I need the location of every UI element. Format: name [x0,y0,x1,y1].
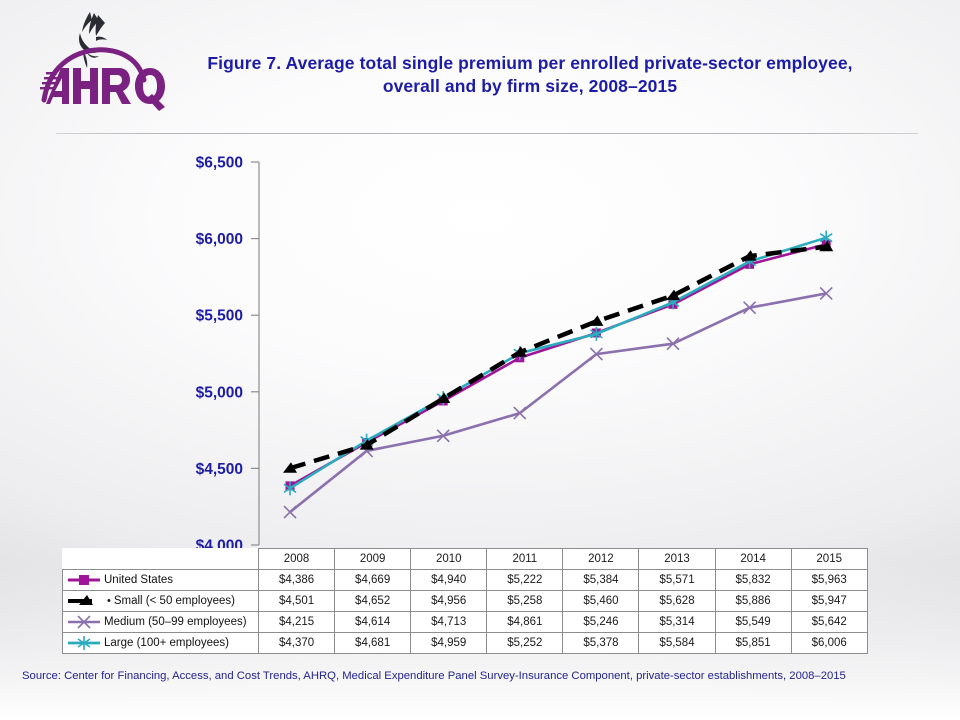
series-large-100-employees [284,231,832,496]
hhs-eagle-emblem [79,12,107,68]
chart-plot-area: $4,000$4,500$5,000$5,500$6,000$6,500 [0,138,960,558]
table-cell: $5,252 [487,633,563,654]
legend-marker-square [66,571,102,589]
table-cell: $4,681 [335,633,411,654]
legend-marker-asterisk [66,634,102,652]
table-header-year-2008: 2008 [259,549,335,570]
page-title: Figure 7. Average total single premium p… [180,52,880,98]
table-row: Large (100+ employees)$4,370$4,681$4,959… [63,633,868,654]
table-cell: $5,628 [639,591,715,612]
legend-label: Large (100+ employees) [104,637,229,649]
header-divider [56,133,918,134]
table-cell: $5,963 [791,570,867,591]
table-cell: $5,832 [715,570,791,591]
legend-cell: Medium (50–99 employees) [63,612,259,633]
source-note: Source: Center for Financing, Access, an… [22,669,902,684]
data-table-wrapper: 20082009201020112012201320142015 United … [62,548,867,654]
ahrq-wordmark [40,68,165,111]
table-row: United States$4,386$4,669$4,940$5,222$5,… [63,570,868,591]
table-cell: $4,959 [411,633,487,654]
table-cell: $4,861 [487,612,563,633]
legend-marker-x [66,613,102,631]
table-cell: $5,549 [715,612,791,633]
y-axis-tick-label: $5,000 [196,384,243,401]
data-point-triangle [589,315,603,326]
table-cell: $4,501 [259,591,335,612]
series-medium-50-99-employees [284,287,832,518]
ahrq-logo [28,8,168,112]
series-line [290,247,826,469]
table-row: •Small (< 50 employees)$4,501$4,652$4,95… [63,591,868,612]
legend-label: Medium (50–99 employees) [104,616,247,628]
table-cell: $4,956 [411,591,487,612]
slide-canvas: Figure 7. Average total single premium p… [0,0,960,720]
table-cell: $5,460 [563,591,639,612]
series-small-50-employees [283,241,833,473]
y-axis-ticks [251,162,259,545]
table-header-year-2015: 2015 [791,549,867,570]
table-cell: $4,940 [411,570,487,591]
table-cell: $5,947 [791,591,867,612]
table-cell: $5,584 [639,633,715,654]
table-header-year-2010: 2010 [411,549,487,570]
table-cell: $4,614 [335,612,411,633]
table-cell: $4,652 [335,591,411,612]
table-cell: $4,386 [259,570,335,591]
legend-cell: Large (100+ employees) [63,633,259,654]
table-cell: $6,006 [791,633,867,654]
y-axis-tick-label: $4,500 [196,461,243,478]
series-united-states [286,240,831,491]
table-cell: $5,246 [563,612,639,633]
y-axis-tick-label: $6,000 [196,231,243,248]
table-body: United States$4,386$4,669$4,940$5,222$5,… [63,570,868,654]
legend-bullet: • [104,595,112,607]
slide-header: Figure 7. Average total single premium p… [0,0,960,134]
table-cell: $4,713 [411,612,487,633]
table-row: Medium (50–99 employees)$4,215$4,614$4,7… [63,612,868,633]
line-chart: $4,000$4,500$5,000$5,500$6,000$6,500 [0,138,960,558]
table-cell: $5,851 [715,633,791,654]
table-header-year-2014: 2014 [715,549,791,570]
table-cell: $5,571 [639,570,715,591]
table-header-year-2013: 2013 [639,549,715,570]
table-cell: $4,669 [335,570,411,591]
series-line [290,293,826,512]
legend-cell: United States [63,570,259,591]
table-cell: $5,314 [639,612,715,633]
table-header-row: 20082009201020112012201320142015 [63,549,868,570]
table-cell: $5,384 [563,570,639,591]
legend-label: Small (< 50 employees) [114,595,235,607]
table-header-year-2011: 2011 [487,549,563,570]
data-point-x [284,506,296,518]
table-header-year-2012: 2012 [563,549,639,570]
table-header-year-2009: 2009 [335,549,411,570]
table-cell: $5,258 [487,591,563,612]
legend-marker-triangle [66,592,102,610]
table-cell: $4,215 [259,612,335,633]
table-cell: $4,370 [259,633,335,654]
legend-cell: •Small (< 50 employees) [63,591,259,612]
table-cell: $5,886 [715,591,791,612]
y-axis-labels: $4,000$4,500$5,000$5,500$6,000$6,500 [196,155,243,555]
legend-label: United States [104,574,173,586]
table-corner-cell [63,549,259,570]
y-axis-tick-label: $5,500 [196,308,243,325]
table-cell: $5,642 [791,612,867,633]
y-axis-tick-label: $6,500 [196,155,243,172]
data-table: 20082009201020112012201320142015 United … [62,548,868,654]
data-series-group [283,231,833,518]
table-cell: $5,378 [563,633,639,654]
table-cell: $5,222 [487,570,563,591]
